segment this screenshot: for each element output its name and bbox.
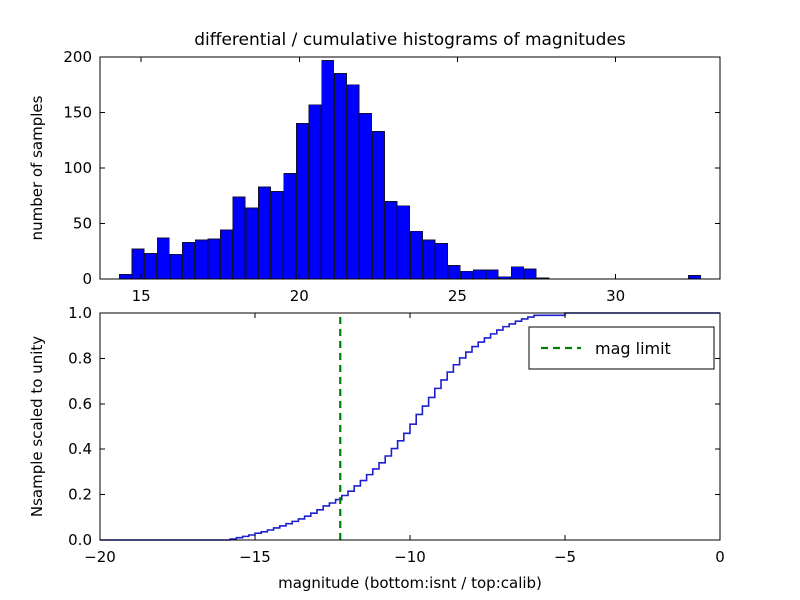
- histogram-bar: [183, 242, 195, 279]
- histogram-bar: [360, 114, 372, 279]
- top-y-tick-label: 0: [82, 270, 92, 288]
- bottom-y-axis-label: Nsample scaled to unity: [28, 336, 46, 517]
- histogram-bar: [410, 231, 422, 279]
- bottom-x-axis-label: magnitude (bottom:isnt / top:calib): [278, 574, 542, 592]
- histogram-bar: [246, 208, 258, 279]
- histogram-bar: [448, 266, 460, 279]
- bottom-y-tick-label: 0.6: [68, 395, 92, 413]
- bottom-y-tick-label: 0.8: [68, 349, 92, 367]
- histogram-bar: [398, 206, 410, 279]
- histogram-bar: [486, 270, 498, 279]
- histogram-bar: [170, 255, 182, 279]
- histogram-bar: [524, 269, 536, 279]
- bottom-x-tick-label: −10: [394, 548, 426, 566]
- histogram-bar: [132, 249, 144, 279]
- histogram-bar: [461, 271, 473, 279]
- histogram-bar: [474, 270, 486, 279]
- histogram-bar: [233, 197, 245, 279]
- histogram-bar: [195, 240, 207, 279]
- top-x-tick-label: 20: [290, 287, 309, 305]
- bottom-y-tick-label: 1.0: [68, 304, 92, 322]
- histogram-bar: [385, 201, 397, 279]
- chart-legend[interactable]: mag limit: [529, 327, 714, 369]
- bottom-y-tick-label: 0.2: [68, 486, 92, 504]
- histogram-bar: [334, 74, 346, 279]
- bottom-x-tick-label: −5: [554, 548, 576, 566]
- bottom-y-tick-label: 0.4: [68, 440, 92, 458]
- top-y-tick-label: 150: [63, 104, 92, 122]
- top-y-axis-label: number of samples: [28, 95, 46, 240]
- bottom-x-tick-label: 0: [715, 548, 725, 566]
- histogram-bar: [157, 238, 169, 279]
- top-x-tick-label: 25: [448, 287, 467, 305]
- top-y-tick-label: 200: [63, 48, 92, 66]
- bottom-y-tick-label: 0.0: [68, 531, 92, 549]
- bottom-x-tick-label: −15: [239, 548, 271, 566]
- bottom-x-tick-label: −20: [84, 548, 116, 566]
- histogram-bar: [347, 85, 359, 279]
- histogram-bar: [512, 267, 524, 279]
- histogram-bar: [309, 105, 321, 279]
- histogram-bar: [423, 240, 435, 279]
- figure-background: [0, 0, 800, 600]
- histogram-bar: [208, 239, 220, 279]
- histogram-bar: [284, 174, 296, 279]
- histogram-bar: [221, 230, 233, 279]
- top-x-tick-label: 15: [132, 287, 151, 305]
- histogram-bar: [258, 187, 270, 279]
- top-y-tick-label: 100: [63, 159, 92, 177]
- histogram-bar: [372, 131, 384, 279]
- legend-mag-limit-label: mag limit: [595, 339, 671, 358]
- histogram-bar: [436, 243, 448, 279]
- histogram-bar: [296, 124, 308, 279]
- histogram-bar: [145, 253, 157, 279]
- histogram-bar: [119, 275, 131, 279]
- top-y-tick-label: 50: [73, 215, 92, 233]
- figure-canvas: differential / cumulative histograms of …: [0, 0, 800, 600]
- histogram-bar: [271, 191, 283, 279]
- matplotlib-figure: differential / cumulative histograms of …: [0, 0, 800, 600]
- top-x-tick-label: 30: [606, 287, 625, 305]
- page-title: differential / cumulative histograms of …: [194, 30, 626, 50]
- histogram-bar: [322, 60, 334, 279]
